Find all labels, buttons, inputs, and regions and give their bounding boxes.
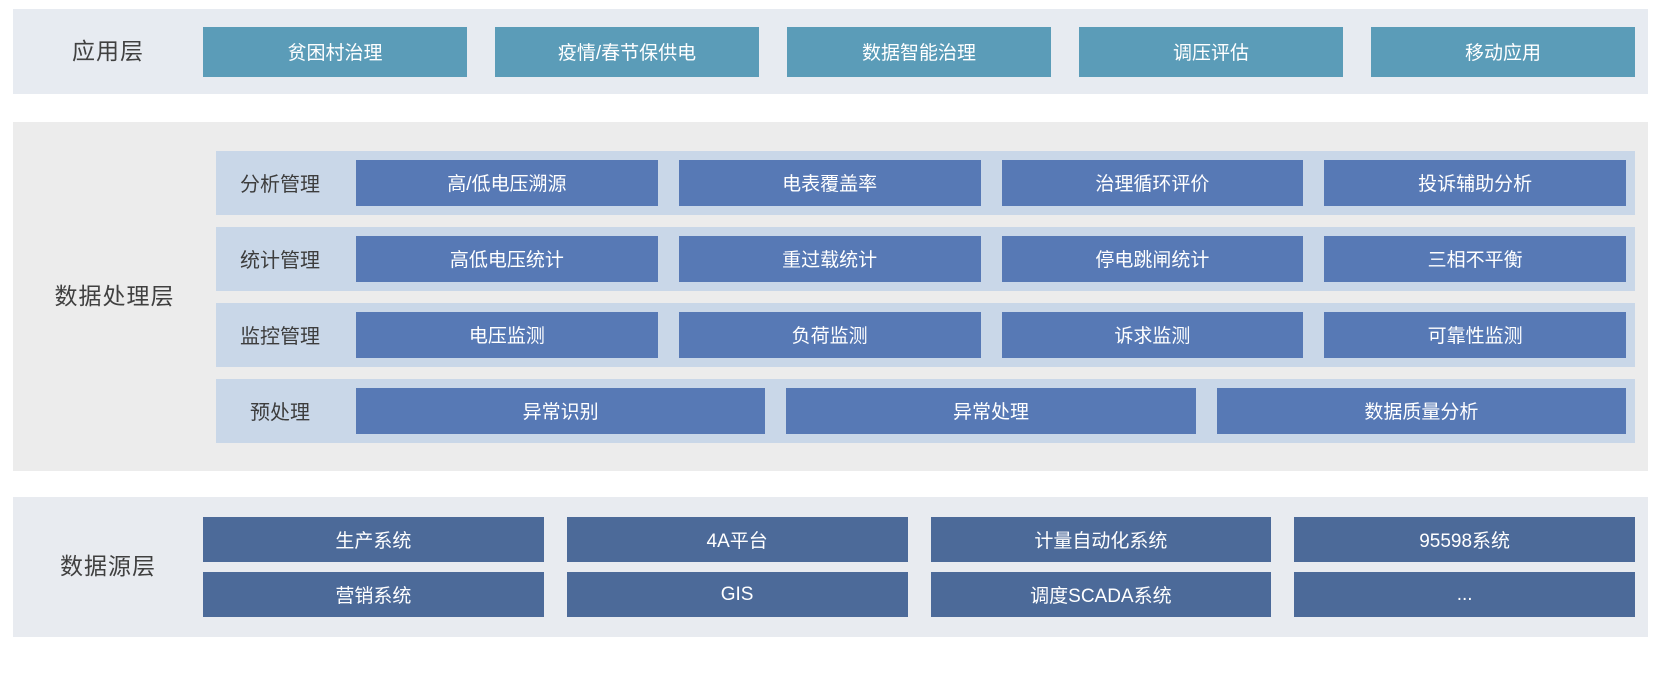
src-box-dispatch-scada-system[interactable]: 调度SCADA系统 (931, 572, 1272, 617)
proc-box-data-quality-analysis[interactable]: 数据质量分析 (1217, 388, 1626, 434)
src-box-4a-platform[interactable]: 4A平台 (567, 517, 908, 562)
processing-row-label-preprocessing: 预处理 (225, 396, 335, 425)
application-layer-band: 应用层 贫困村治理 疫情/春节保供电 数据智能治理 调压评估 移动应用 (13, 9, 1648, 94)
app-box-data-intelligent-governance[interactable]: 数据智能治理 (787, 27, 1051, 77)
app-box-mobile-application[interactable]: 移动应用 (1371, 27, 1635, 77)
data-processing-layer-body: 分析管理 高/低电压溯源 电表覆盖率 治理循环评价 投诉辅助分析 统计管理 高低… (216, 151, 1648, 443)
source-row-bottom: 营销系统 GIS 调度SCADA系统 ... (203, 572, 1635, 617)
proc-box-meter-coverage-rate[interactable]: 电表覆盖率 (679, 160, 981, 206)
proc-box-heavy-overload-statistics[interactable]: 重过载统计 (679, 236, 981, 282)
data-source-layer-body: 生产系统 4A平台 计量自动化系统 95598系统 营销系统 GIS 调度SCA… (203, 517, 1648, 617)
proc-box-three-phase-imbalance[interactable]: 三相不平衡 (1324, 236, 1626, 282)
proc-box-reliability-monitoring[interactable]: 可靠性监测 (1324, 312, 1626, 358)
data-processing-layer-band: 数据处理层 分析管理 高/低电压溯源 电表覆盖率 治理循环评价 投诉辅助分析 统… (13, 122, 1648, 471)
proc-box-appeal-monitoring[interactable]: 诉求监测 (1002, 312, 1304, 358)
src-box-marketing-system[interactable]: 营销系统 (203, 572, 544, 617)
data-source-layer-label: 数据源层 (13, 553, 203, 581)
proc-box-voltage-monitoring[interactable]: 电压监测 (356, 312, 658, 358)
architecture-diagram: 应用层 贫困村治理 疫情/春节保供电 数据智能治理 调压评估 移动应用 数据处理… (0, 0, 1661, 681)
data-processing-layer-label: 数据处理层 (13, 283, 216, 311)
proc-box-anomaly-identification[interactable]: 异常识别 (356, 388, 765, 434)
app-box-epidemic-spring-festival-power-supply[interactable]: 疫情/春节保供电 (495, 27, 759, 77)
data-source-layer-band: 数据源层 生产系统 4A平台 计量自动化系统 95598系统 营销系统 GIS … (13, 497, 1648, 637)
processing-row-analysis-management: 分析管理 高/低电压溯源 电表覆盖率 治理循环评价 投诉辅助分析 (216, 151, 1635, 215)
src-box-95598-system[interactable]: 95598系统 (1294, 517, 1635, 562)
proc-box-high-low-voltage-tracing[interactable]: 高/低电压溯源 (356, 160, 658, 206)
source-row-top: 生产系统 4A平台 计量自动化系统 95598系统 (203, 517, 1635, 562)
app-box-poverty-village-governance[interactable]: 贫困村治理 (203, 27, 467, 77)
processing-row-label-analysis-management: 分析管理 (225, 168, 335, 197)
processing-row-label-statistics-management: 统计管理 (225, 244, 335, 273)
src-box-gis[interactable]: GIS (567, 572, 908, 617)
src-box-metering-automation-system[interactable]: 计量自动化系统 (931, 517, 1272, 562)
proc-box-outage-trip-statistics[interactable]: 停电跳闸统计 (1002, 236, 1304, 282)
app-box-voltage-regulation-assessment[interactable]: 调压评估 (1079, 27, 1343, 77)
processing-row-preprocessing: 预处理 异常识别 异常处理 数据质量分析 (216, 379, 1635, 443)
proc-box-anomaly-handling[interactable]: 异常处理 (786, 388, 1195, 434)
processing-row-statistics-management: 统计管理 高低电压统计 重过载统计 停电跳闸统计 三相不平衡 (216, 227, 1635, 291)
src-box-more-ellipsis[interactable]: ... (1294, 572, 1635, 617)
proc-box-load-monitoring[interactable]: 负荷监测 (679, 312, 981, 358)
proc-box-high-low-voltage-statistics[interactable]: 高低电压统计 (356, 236, 658, 282)
application-layer-body: 贫困村治理 疫情/春节保供电 数据智能治理 调压评估 移动应用 (203, 27, 1648, 77)
proc-box-governance-cycle-evaluation[interactable]: 治理循环评价 (1002, 160, 1304, 206)
processing-row-label-monitoring-management: 监控管理 (225, 320, 335, 349)
src-box-production-system[interactable]: 生产系统 (203, 517, 544, 562)
application-box-row: 贫困村治理 疫情/春节保供电 数据智能治理 调压评估 移动应用 (203, 27, 1648, 77)
processing-row-monitoring-management: 监控管理 电压监测 负荷监测 诉求监测 可靠性监测 (216, 303, 1635, 367)
proc-box-complaint-auxiliary-analysis[interactable]: 投诉辅助分析 (1324, 160, 1626, 206)
application-layer-label: 应用层 (13, 38, 203, 66)
